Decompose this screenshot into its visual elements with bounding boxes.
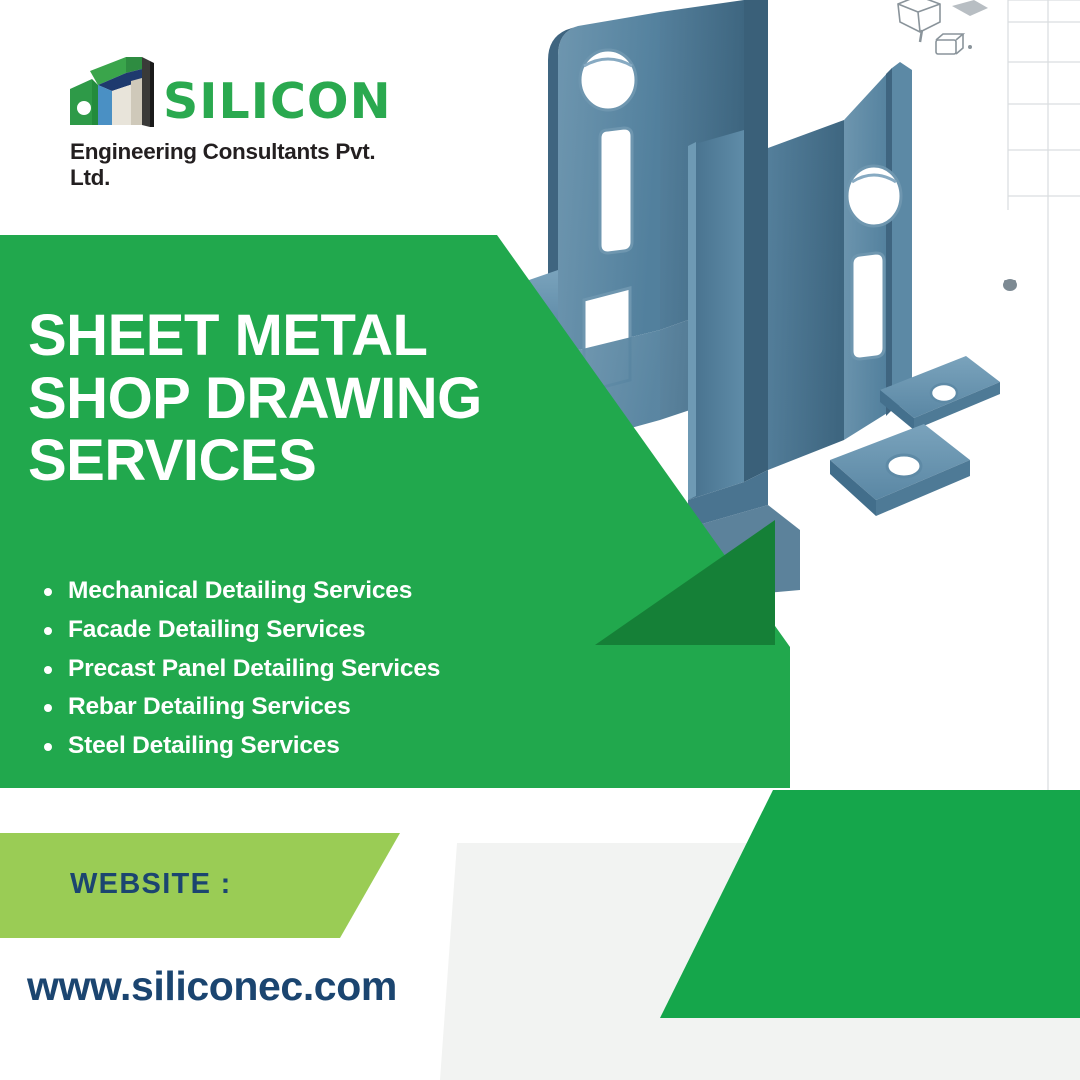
headline-line-3: SERVICES [28, 430, 588, 493]
logo-wordmark: SILICON [163, 73, 392, 130]
list-item: Rebar Detailing Services [68, 688, 440, 727]
list-item: Precast Panel Detailing Services [68, 650, 440, 689]
decor-green-parallelogram [660, 790, 1080, 1018]
logo-tagline: Engineering Consultants Pvt. Ltd. [70, 139, 408, 191]
list-item: Mechanical Detailing Services [68, 572, 440, 611]
page-title: SHEET METAL SHOP DRAWING SERVICES [28, 305, 588, 493]
silicon-building-logo-mark [68, 55, 160, 133]
list-item: Facade Detailing Services [68, 611, 440, 650]
cad-small-bolt [1003, 279, 1017, 291]
website-label: WEBSITE : [70, 868, 232, 901]
website-url[interactable]: www.siliconec.com [27, 963, 397, 1010]
headline-line-1: SHEET METAL [28, 305, 588, 368]
list-item: Steel Detailing Services [68, 727, 440, 766]
brand-logo[interactable]: SILICON Engineering Consultants Pvt. Ltd… [68, 55, 408, 170]
headline-line-2: SHOP DRAWING [28, 368, 588, 431]
poster-canvas: SILICON Engineering Consultants Pvt. Ltd… [0, 0, 1080, 1080]
services-list: Mechanical Detailing Services Facade Det… [30, 572, 440, 766]
